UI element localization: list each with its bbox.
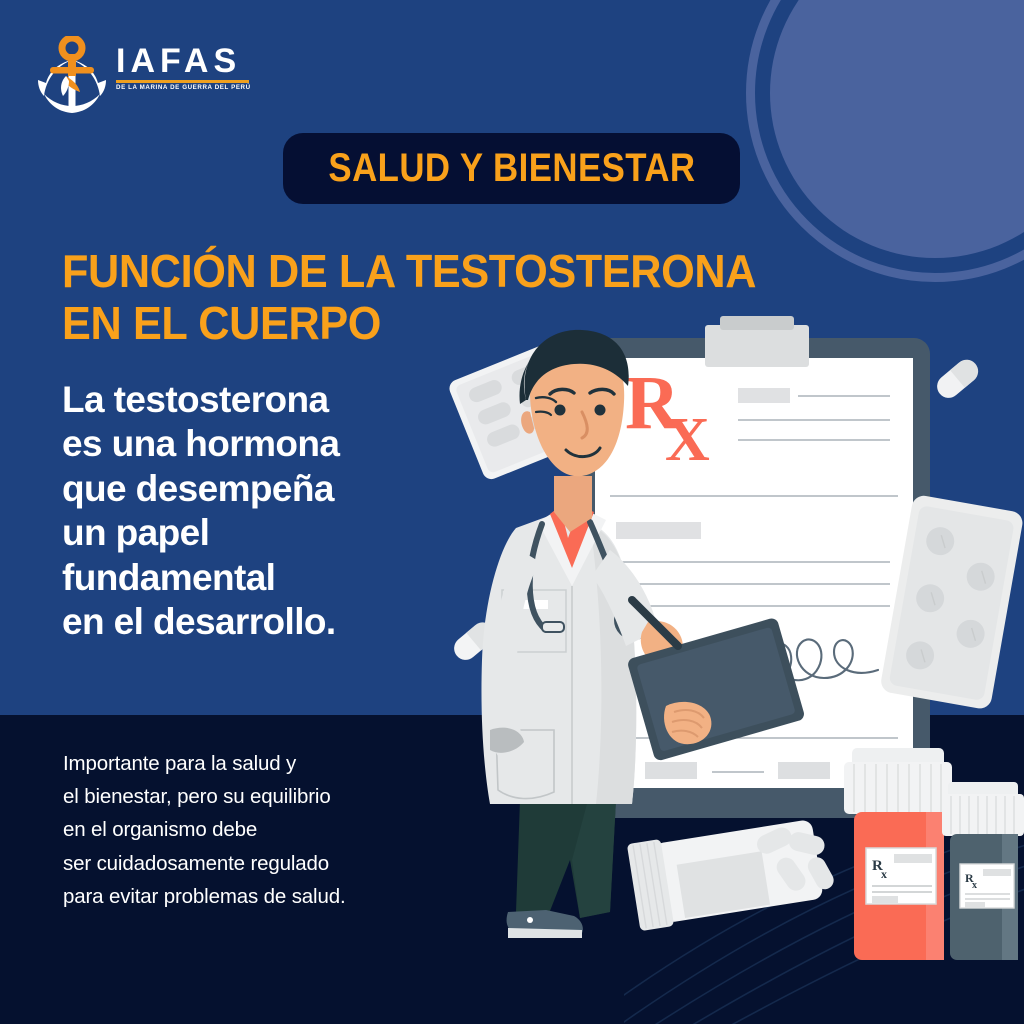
lead-line-3: que desempeña bbox=[62, 467, 462, 511]
page-title-line-1: FUNCIÓN DE LA TESTOSTERONA bbox=[62, 246, 814, 298]
brand-wordmark: IAFAS DE LA MARINA DE GUERRA DEL PERÚ bbox=[116, 44, 251, 91]
svg-text:X: X bbox=[665, 406, 710, 474]
brand-name: IAFAS bbox=[116, 44, 251, 78]
lead-line-4: un papel bbox=[62, 511, 462, 555]
spilled-pill-bottle bbox=[627, 813, 840, 931]
topic-badge-label: SALUD Y BIENESTAR bbox=[328, 146, 695, 191]
medical-illustration: R X bbox=[420, 300, 1024, 960]
pill-bottle-coral: R x bbox=[844, 748, 952, 960]
lead-line-2: es una hormona bbox=[62, 422, 462, 466]
svg-text:x: x bbox=[881, 867, 887, 881]
lead-line-5: fundamental bbox=[62, 556, 462, 600]
brand-logo: IAFAS DE LA MARINA DE GUERRA DEL PERÚ bbox=[36, 36, 251, 116]
brand-subtitle: DE LA MARINA DE GUERRA DEL PERÚ bbox=[116, 85, 251, 91]
lead-line-6: en el desarrollo. bbox=[62, 600, 462, 644]
lead-paragraph: La testosterona es una hormona que desem… bbox=[62, 378, 462, 644]
floating-capsule-top-right bbox=[932, 355, 982, 403]
pill-bottle-slate: R x bbox=[942, 782, 1024, 960]
infographic-poster: IAFAS DE LA MARINA DE GUERRA DEL PERÚ SA… bbox=[0, 0, 1024, 1024]
svg-text:x: x bbox=[972, 880, 977, 891]
brand-rule bbox=[116, 80, 249, 83]
anchor-icon bbox=[36, 36, 108, 114]
topic-badge: SALUD Y BIENESTAR bbox=[283, 133, 740, 204]
lead-line-1: La testosterona bbox=[62, 378, 462, 422]
